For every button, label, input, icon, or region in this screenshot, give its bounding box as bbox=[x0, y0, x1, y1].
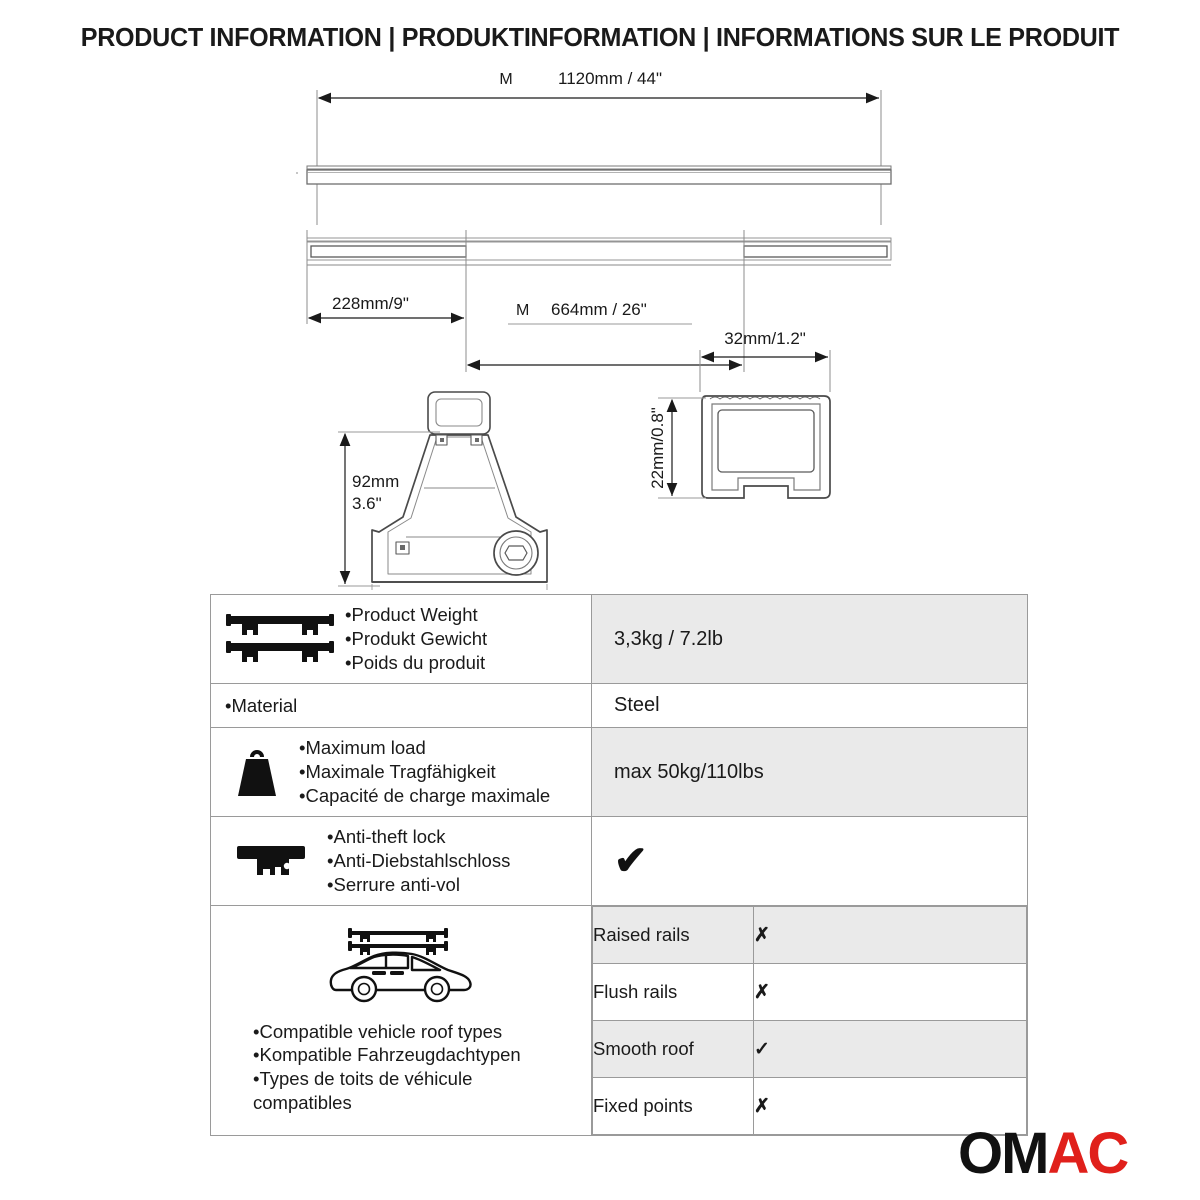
spec-value-material: Steel bbox=[592, 684, 1028, 728]
label-line: •Product Weight bbox=[345, 603, 487, 627]
page-title: PRODUCT INFORMATION | PRODUKTINFORMATION… bbox=[9, 24, 1191, 53]
checkmark-icon: ✔ bbox=[614, 839, 648, 883]
roof-types-label-text: •Compatible vehicle roof types •Kompatib… bbox=[221, 1020, 583, 1115]
roof-type-row: Flush rails ✗ bbox=[593, 964, 1027, 1021]
spec-value-product-weight: 3,3kg / 7.2lb bbox=[592, 595, 1028, 684]
label-line: •Types de toits de véhicule bbox=[253, 1067, 583, 1091]
spec-label-text: •Material bbox=[221, 694, 297, 718]
roof-type-mark-smooth-roof: ✓ bbox=[754, 1021, 1027, 1078]
foot-spacing-value: 664mm / 26" bbox=[551, 300, 647, 319]
bar-length-prefix: M bbox=[499, 71, 512, 88]
label-line: •Capacité de charge maximale bbox=[299, 784, 550, 808]
spec-label-cell: •Maximum load •Maximale Tragfähigkeit •C… bbox=[211, 728, 592, 817]
label-line: •Serrure anti-vol bbox=[327, 873, 510, 897]
spec-label-cell: •Material bbox=[211, 684, 592, 728]
roof-type-row: Raised rails ✗ bbox=[593, 907, 1027, 964]
roof-types-options-cell: Raised rails ✗ Flush rails ✗ Smooth roof… bbox=[592, 906, 1028, 1136]
label-line: •Anti-Diebstahlschloss bbox=[327, 849, 510, 873]
spec-label-cell: •Product Weight •Produkt Gewicht •Poids … bbox=[211, 595, 592, 684]
spec-label-text: •Product Weight •Produkt Gewicht •Poids … bbox=[345, 603, 487, 675]
table-row: •Product Weight •Produkt Gewicht •Poids … bbox=[211, 595, 1028, 684]
logo-red-text: AC bbox=[1047, 1121, 1127, 1186]
bar-top-view bbox=[307, 90, 891, 225]
table-row: •Anti-theft lock •Anti-Diebstahlschloss … bbox=[211, 817, 1028, 906]
omac-logo: OMAC bbox=[958, 1122, 1188, 1186]
car-with-roof-bars-icon bbox=[221, 924, 583, 1010]
bar-length-value: 1120mm / 44" bbox=[558, 69, 662, 88]
spec-value-maximum-load: max 50kg/110lbs bbox=[592, 728, 1028, 817]
foot-offset-value: 228mm/9" bbox=[332, 294, 409, 313]
roof-type-name-raised-rails: Raised rails bbox=[593, 907, 754, 964]
roof-types-label-cell: •Compatible vehicle roof types •Kompatib… bbox=[211, 906, 592, 1136]
roof-type-name-flush-rails: Flush rails bbox=[593, 964, 754, 1021]
label-line: •Maximale Tragfähigkeit bbox=[299, 760, 550, 784]
roof-types-subtable: Raised rails ✗ Flush rails ✗ Smooth roof… bbox=[592, 906, 1027, 1135]
label-line: •Poids du produit bbox=[345, 651, 487, 675]
foot-spacing-prefix: M bbox=[516, 302, 529, 319]
weight-icon bbox=[221, 744, 293, 800]
roof-type-row: Smooth roof ✓ bbox=[593, 1021, 1027, 1078]
profile-width-value: 32mm/1.2" bbox=[724, 329, 806, 348]
label-line: •Kompatible Fahrzeugdachtypen bbox=[253, 1043, 583, 1067]
label-line: •Material bbox=[225, 694, 297, 718]
table-row: •Material Steel bbox=[211, 684, 1028, 728]
label-line: •Anti-theft lock bbox=[327, 825, 510, 849]
spec-label-cell: •Anti-theft lock •Anti-Diebstahlschloss … bbox=[211, 817, 592, 906]
roof-type-mark-raised-rails: ✗ bbox=[754, 907, 1027, 964]
label-line: •Compatible vehicle roof types bbox=[253, 1020, 583, 1044]
technical-drawings: M 1120mm / 44" 228mm/9" M 664mm / 26" bbox=[0, 62, 1200, 590]
logo-dark-text: OM bbox=[958, 1121, 1047, 1186]
lock-icon bbox=[221, 838, 321, 884]
profile-height-value: 22mm/0.8" bbox=[648, 407, 667, 489]
foot-height-line2: 3.6" bbox=[352, 494, 382, 513]
profile-cross-section bbox=[700, 350, 830, 498]
spec-label-text: •Maximum load •Maximale Tragfähigkeit •C… bbox=[299, 736, 550, 808]
label-line: •Produkt Gewicht bbox=[345, 627, 487, 651]
roof-type-name-fixed-points: Fixed points bbox=[593, 1078, 754, 1135]
page-header: PRODUCT INFORMATION | PRODUKTINFORMATION… bbox=[0, 0, 1200, 62]
label-line: compatibles bbox=[253, 1091, 583, 1115]
spec-value-anti-theft-lock: ✔ bbox=[592, 817, 1028, 906]
specification-table: •Product Weight •Produkt Gewicht •Poids … bbox=[210, 594, 1028, 1136]
table-row-roof-types: •Compatible vehicle roof types •Kompatib… bbox=[211, 906, 1028, 1136]
foot-height-line1: 92mm bbox=[352, 472, 399, 491]
crossbars-icon bbox=[221, 610, 339, 668]
table-row: •Maximum load •Maximale Tragfähigkeit •C… bbox=[211, 728, 1028, 817]
spec-label-text: •Anti-theft lock •Anti-Diebstahlschloss … bbox=[327, 825, 510, 897]
roof-type-name-smooth-roof: Smooth roof bbox=[593, 1021, 754, 1078]
roof-type-mark-flush-rails: ✗ bbox=[754, 964, 1027, 1021]
label-line: •Maximum load bbox=[299, 736, 550, 760]
